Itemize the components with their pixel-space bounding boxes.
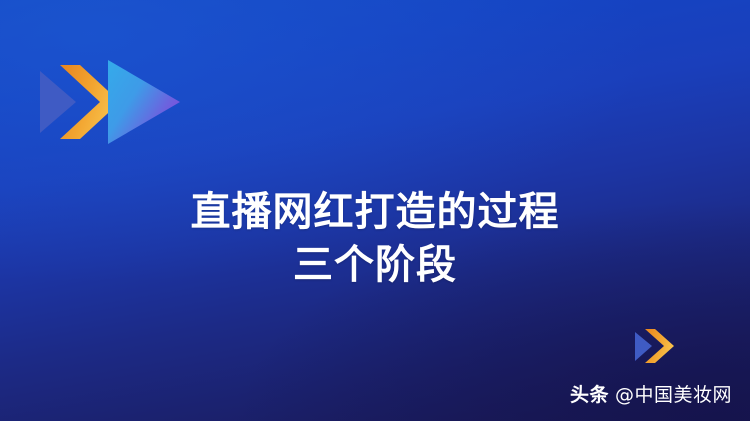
title-line-1: 直播网红打造的过程 [0, 186, 750, 239]
slide-canvas: 直播网红打造的过程 三个阶段 头条 @中国美妆网 [0, 0, 750, 421]
watermark-brand: 头条 [570, 380, 609, 407]
play-chevron-logo-small-icon [633, 325, 693, 367]
title-line-2: 三个阶段 [0, 239, 750, 292]
watermark-handle: @中国美妆网 [615, 380, 732, 407]
page-title: 直播网红打造的过程 三个阶段 [0, 186, 750, 292]
small-triangle-shape [635, 332, 652, 361]
watermark: 头条 @中国美妆网 [570, 380, 732, 407]
large-play-triangle-shape [108, 60, 180, 144]
decoration-bottom-right [633, 325, 693, 367]
small-triangle-shape [40, 71, 76, 133]
decoration-top-left [38, 57, 188, 147]
play-chevron-logo-icon [38, 57, 188, 147]
